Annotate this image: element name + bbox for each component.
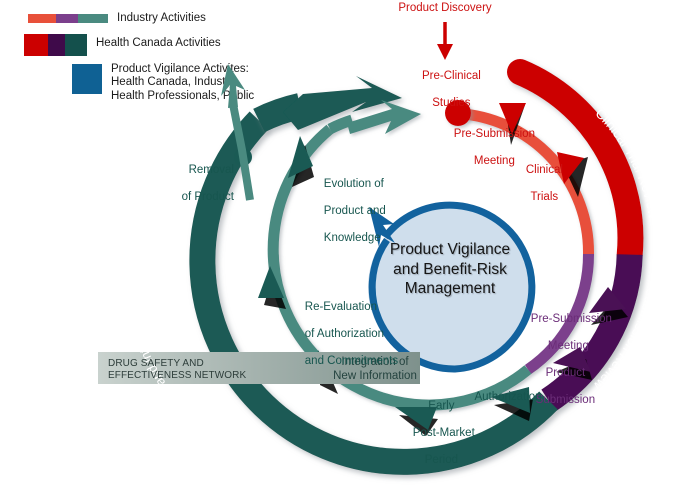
label-line: Removal <box>189 164 234 176</box>
label-early-post-market-period: Early Post-Market Period <box>400 386 470 481</box>
label-line: Meeting <box>548 340 589 352</box>
center-label-line-3: Management <box>405 280 495 297</box>
label-product-discovery: Product Discovery <box>378 2 512 16</box>
center-label-line-1: Product Vigilance <box>390 241 510 258</box>
label-line: Studies <box>432 97 470 109</box>
label-line: and Commitments <box>305 355 398 367</box>
label-line: Clinical <box>526 164 563 176</box>
label-drug-safety-and-effectiveness-network: DRUG SAFETY AND EFFECTIVENESS NETWORK <box>108 358 288 382</box>
label-line: Pre-Clinical <box>422 70 481 82</box>
label-re-evaluation-of-authorization: Re-Evaluation of Authorization and Commi… <box>292 287 398 382</box>
center-label: Product Vigilance and Benefit-Risk Manag… <box>368 240 532 299</box>
label-line: DRUG SAFETY AND <box>108 358 204 369</box>
product-discovery-arrow <box>437 22 453 60</box>
label-line: Pre-Submission <box>531 313 612 325</box>
center-label-line-2: and Benefit-Risk <box>393 261 507 278</box>
label-line: Post-Market <box>413 427 475 439</box>
label-line: Trials <box>530 191 558 203</box>
label-product-submission: Product Submission <box>518 353 600 421</box>
label-line: EFFECTIVENESS NETWORK <box>108 370 246 381</box>
label-line: of Product <box>182 191 234 203</box>
label-authorization: Authorization <box>466 391 550 405</box>
label-line: Period <box>425 454 458 466</box>
label-line: of Authorization <box>305 328 384 340</box>
label-line: Re-Evaluation <box>305 301 377 313</box>
label-line: Evolution of <box>324 178 384 190</box>
diagram-canvas: Industry Activities Health Canada Activi… <box>0 0 684 501</box>
label-clinical-trials: Clinical Trials <box>505 150 571 218</box>
label-line: Pre-Submission <box>454 128 535 140</box>
label-removal-of-product: Removal of Product <box>162 150 234 218</box>
label-line: Product <box>546 367 586 379</box>
label-line: Product and <box>324 205 386 217</box>
label-line: Early <box>428 400 454 412</box>
